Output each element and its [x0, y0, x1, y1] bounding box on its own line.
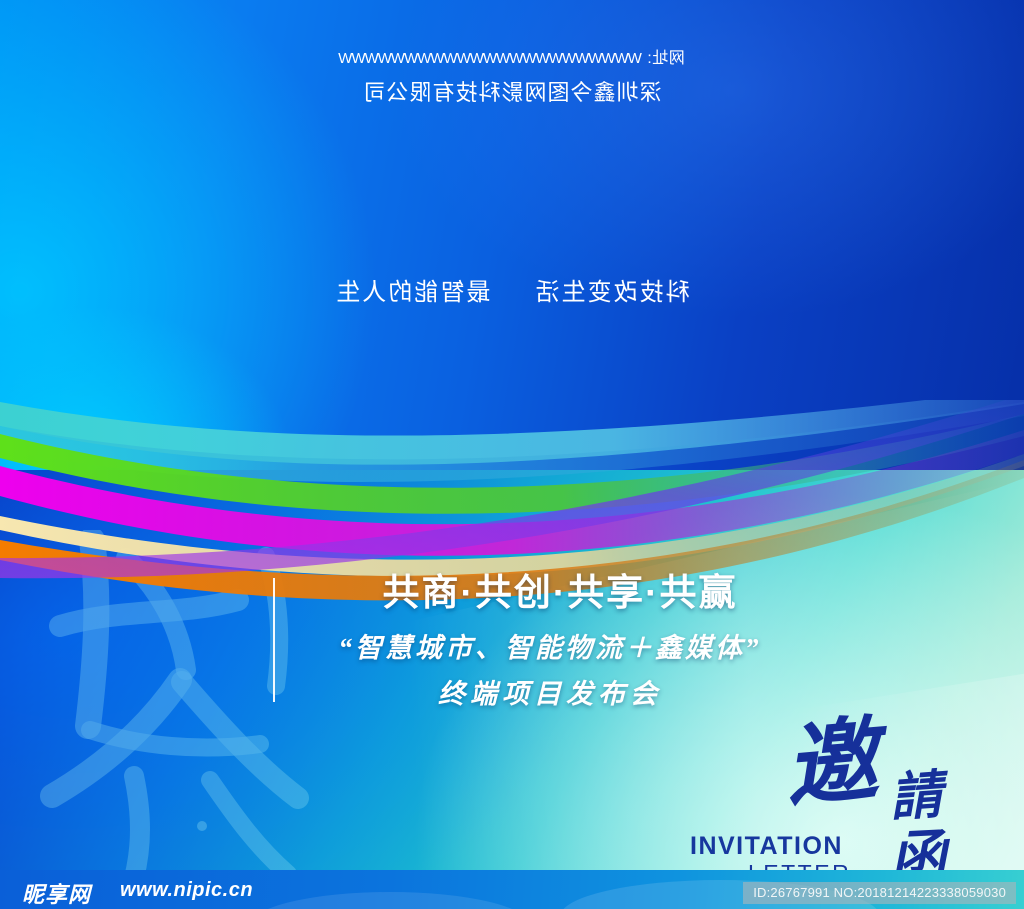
- back-cover-panel: 网址: WWWWWWWWWWWWWWWWWWWWWWW 深圳鑫今图网影科技有限公…: [0, 0, 1024, 470]
- back-cover-slogan: 科技改变生活 最智能的人生: [0, 272, 1024, 307]
- invitation-poster: 网址: WWWWWWWWWWWWWWWWWWWWWWW 深圳鑫今图网影科技有限公…: [0, 0, 1024, 909]
- site-logo: 昵享网: [22, 877, 91, 909]
- back-cover-text-block: 网址: WWWWWWWWWWWWWWWWWWWWWWW 深圳鑫今图网影科技有限公…: [0, 48, 1024, 110]
- english-invitation-label: INVITATION: [690, 832, 843, 861]
- site-url[interactable]: www.nipic.cn: [120, 879, 253, 902]
- calligraphy-char-qing: 請: [888, 770, 944, 826]
- page-title: 共商·共创·共享·共赢: [300, 562, 820, 616]
- image-id-tag: ID:26767991 NO:20181214223338059030: [743, 882, 1016, 904]
- subtitle-secondary: 终端项目发布会: [300, 672, 800, 711]
- website-line: 网址: WWWWWWWWWWWWWWWWWWWWWWW: [0, 48, 1024, 70]
- slogan-right: 最智能的人生: [334, 279, 490, 306]
- subtitle-primary: “智慧城市、智能物流＋鑫媒体”: [280, 626, 820, 665]
- title-vertical-rule: [273, 578, 275, 702]
- slogan-left: 科技改变生活: [534, 279, 690, 306]
- website-label: 网址:: [647, 50, 685, 67]
- website-url: WWWWWWWWWWWWWWWWWWWWWWW: [339, 50, 642, 67]
- calligraphy-char-yao: 邀: [781, 714, 881, 814]
- watermark-blob-2: [250, 892, 530, 909]
- cyan-glow-decoration: [0, 300, 300, 470]
- company-name: 深圳鑫今图网影科技有限公司: [0, 76, 1024, 110]
